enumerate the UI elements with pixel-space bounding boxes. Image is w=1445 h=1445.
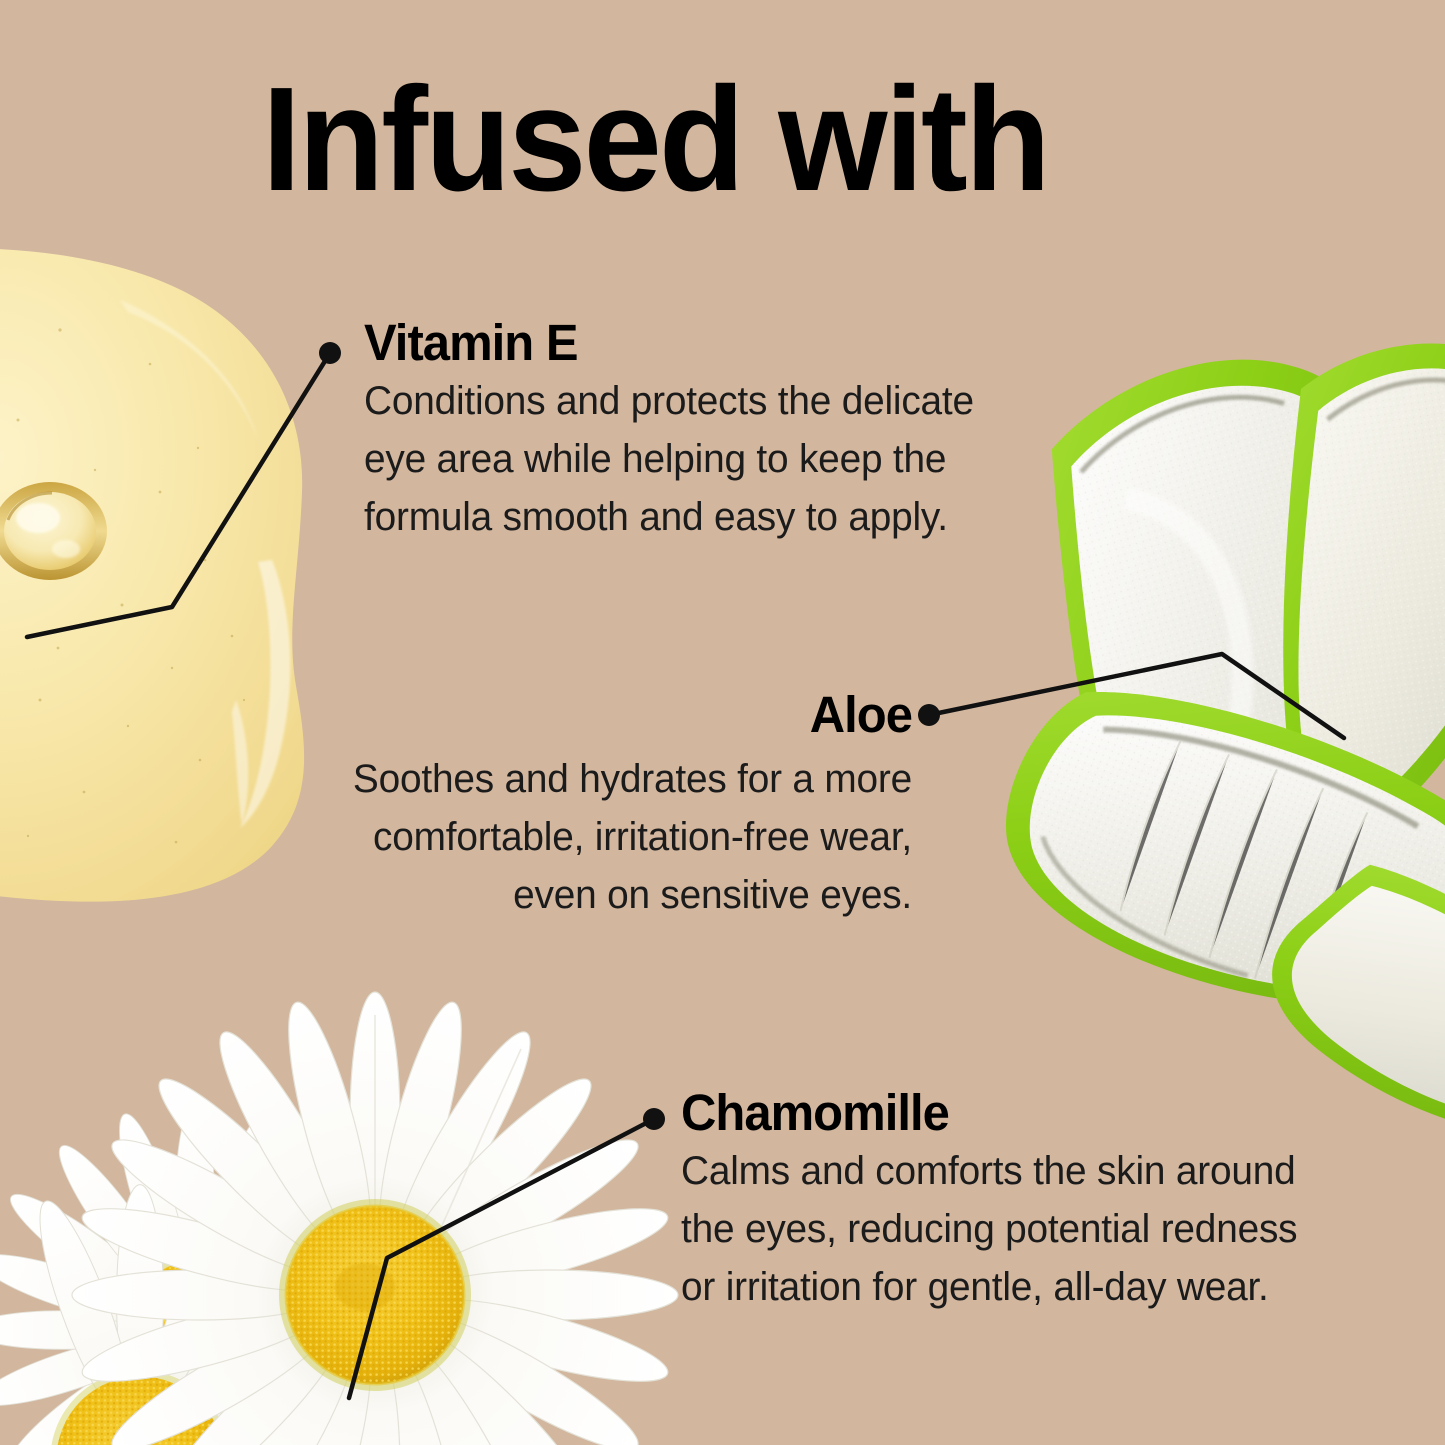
chamomille-leader-line: [349, 1119, 654, 1398]
chamomile-flower-front: [72, 992, 678, 1445]
chamomile-flower-back: [0, 1103, 422, 1445]
callout-body-chamomille: Calms and comforts the skin around the e…: [681, 1142, 1341, 1316]
callout-chamomille: Chamomille Calms and comforts the skin a…: [681, 1086, 1361, 1316]
vitamin-e-leader-dot: [319, 342, 341, 364]
chamomille-leader-dot: [643, 1108, 665, 1130]
callout-vitamin-e: Vitamin E Conditions and protects the de…: [364, 316, 1024, 546]
callout-body-vitamin-e: Conditions and protects the delicate eye…: [364, 372, 1004, 546]
chamomile-flower-bottom: [24, 1185, 416, 1445]
chamomile-flowers: [0, 992, 678, 1445]
aloe-leader-line: [929, 654, 1344, 738]
serum-droplet: [0, 482, 107, 580]
callout-heading-vitamin-e: Vitamin E: [364, 316, 998, 370]
page-title: Infused with: [262, 66, 1048, 214]
callout-heading-chamomille: Chamomille: [681, 1086, 1334, 1140]
callout-body-aloe: Soothes and hydrates for a more comforta…: [311, 750, 912, 924]
aloe-leaf-slices: [969, 323, 1445, 1206]
callout-heading-aloe: Aloe: [317, 688, 912, 742]
callout-aloe: Aloe Soothes and hydrates for a more com…: [292, 688, 912, 924]
serum-blob: [0, 248, 304, 902]
infographic-canvas: Infused with Vitamin E Conditions and pr…: [0, 0, 1445, 1445]
vitamin-e-leader-line: [27, 353, 330, 637]
aloe-leader-dot: [918, 704, 940, 726]
